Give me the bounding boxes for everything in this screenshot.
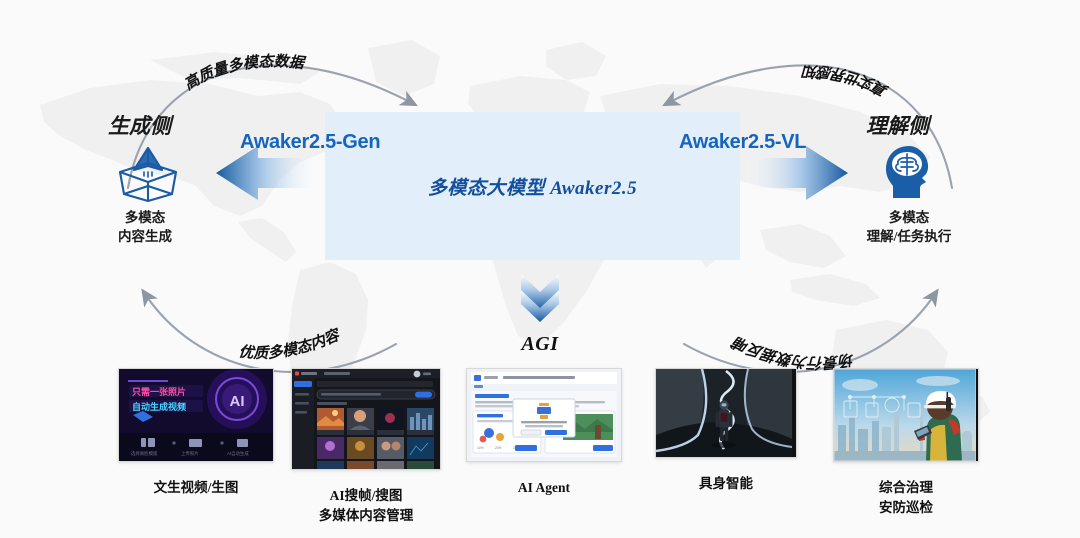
svg-text:只需一张照片: 只需一张照片 — [132, 386, 186, 397]
left-side-heading: 生成侧 — [108, 110, 171, 140]
left-side-subtitle-line2: 内容生成 — [108, 227, 182, 246]
use-case-card[interactable]: AI 只需一张照片 自动生成视频 选择真脸模版上传照片AI自动生成 — [118, 368, 274, 498]
diagram-canvas: 多模态大模型 Awaker2.5 Awaker2.5-Gen Awaker2.5… — [0, 0, 1080, 538]
use-case-caption: 文生视频/生图 — [118, 478, 274, 498]
use-case-caption: 综合治理 安防巡检 — [833, 478, 979, 517]
use-case-caption: AI Agent — [466, 478, 622, 498]
svg-text:AI: AI — [230, 393, 245, 410]
right-flow-arrow — [742, 146, 848, 200]
left-side-subtitle-line1: 多模态 — [108, 208, 182, 227]
right-side-heading: 理解侧 — [866, 110, 929, 140]
right-side-subtitle-line1: 多模态 — [856, 208, 962, 227]
caption-line1: 具身智能 — [655, 474, 797, 494]
svg-text:20%: 20% — [495, 446, 502, 450]
use-case-card[interactable]: 具身智能 — [655, 368, 797, 494]
agi-label: AGI — [486, 333, 594, 356]
robot-tunnel-thumbnail[interactable] — [655, 368, 797, 458]
agent-dialog-webpage-thumbnail[interactable]: 10%20%30% — [466, 368, 622, 462]
open-box-generation-icon — [112, 144, 184, 207]
left-side-subtitle: 多模态 内容生成 — [108, 208, 182, 246]
svg-text:选择真脸模版: 选择真脸模版 — [131, 450, 158, 457]
caption-line1: AI Agent — [466, 478, 622, 498]
left-flow-arrow — [216, 146, 322, 200]
use-case-card[interactable]: AI搜帧/搜图 多媒体内容管理 — [291, 368, 441, 525]
model-label-vl: Awaker2.5-VL — [679, 131, 806, 154]
svg-text:10%: 10% — [477, 446, 484, 450]
double-chevron-down-icon — [515, 272, 565, 324]
media-library-grid-thumbnail[interactable] — [291, 368, 441, 470]
use-case-caption: 具身智能 — [655, 474, 797, 494]
right-side-subtitle-line2: 理解/任务执行 — [856, 227, 962, 246]
caption-line1: 文生视频/生图 — [118, 478, 274, 498]
caption-line1: AI搜帧/搜图 — [291, 486, 441, 506]
right-side-subtitle: 多模态 理解/任务执行 — [856, 208, 962, 246]
use-case-card[interactable]: 综合治理 安防巡检 — [833, 368, 979, 517]
caption-line2: 安防巡检 — [833, 498, 979, 518]
central-model-title: 多模态大模型 Awaker2.5 — [325, 112, 740, 260]
use-case-card[interactable]: 10%20%30% — [466, 368, 622, 498]
svg-text:AI自动生成: AI自动生成 — [227, 450, 249, 457]
caption-line1: 综合治理 — [833, 478, 979, 498]
brain-head-icon — [882, 144, 936, 205]
industrial-inspection-thumbnail[interactable] — [833, 368, 979, 462]
model-label-gen: Awaker2.5-Gen — [240, 131, 380, 154]
use-case-card-row: AI 只需一张照片 自动生成视频 选择真脸模版上传照片AI自动生成 — [0, 368, 1080, 538]
dark-promo-poster-thumbnail[interactable]: AI 只需一张照片 自动生成视频 选择真脸模版上传照片AI自动生成 — [118, 368, 274, 462]
svg-text:自动生成视频: 自动生成视频 — [132, 401, 186, 412]
caption-line2: 多媒体内容管理 — [291, 506, 441, 526]
use-case-caption: AI搜帧/搜图 多媒体内容管理 — [291, 486, 441, 525]
svg-text:上传照片: 上传照片 — [181, 450, 199, 457]
agi-block: AGI — [486, 272, 594, 356]
